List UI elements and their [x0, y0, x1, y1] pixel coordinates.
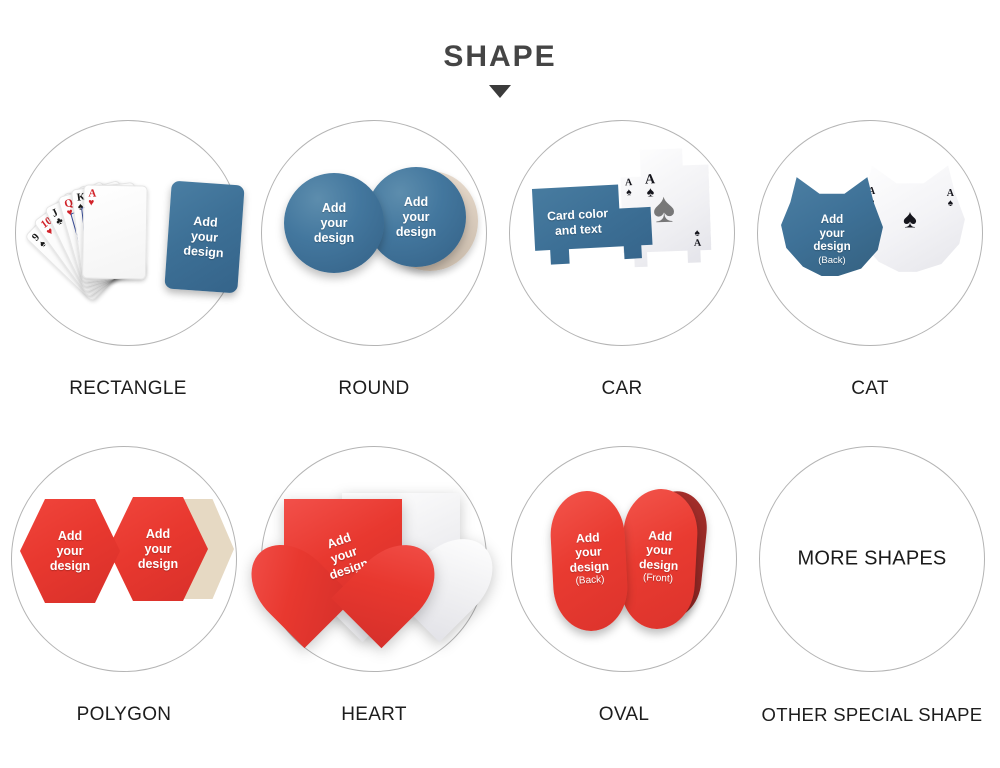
shape-catalog-page: SHAPE 9♠ 10♥ J♣ Q♥ K♠ [0, 0, 1000, 768]
more-shapes-text: MORE SHAPES [760, 548, 984, 571]
shape-cell-round[interactable]: Add your design Add your design ROUND [250, 120, 498, 400]
shape-cell-other[interactable]: MORE SHAPES OTHER SPECIAL SHAPE [748, 446, 996, 726]
round-card-front: Add your design [284, 173, 384, 273]
shape-cell-cat[interactable]: A♠ A♠ ♠ Add your design(Back) CAT [746, 120, 994, 400]
shape-label-car: CAR [498, 378, 746, 400]
heart-card-front: Add your design [284, 499, 402, 607]
shape-thumb-car[interactable]: A♠ A♠ ♠ ♠A Card color and text [509, 120, 735, 346]
shape-thumb-other[interactable]: MORE SHAPES [759, 446, 985, 672]
add-your-design-text: Add your design(Front) [621, 527, 698, 587]
add-your-design-text: Add your design [167, 212, 243, 261]
oval-card-front: Add your design(Front) [618, 487, 699, 631]
cat-card-front: Add your design(Back) [780, 173, 884, 277]
shape-thumb-oval[interactable]: Add your design(Front) Add your design(B… [511, 446, 737, 672]
card-pip: A♠ [625, 178, 633, 197]
card-fan: 9♠ 10♥ J♣ Q♥ K♠ A♥ [34, 155, 224, 315]
fan-card: A♥ [82, 184, 148, 279]
triangle-down-icon [489, 85, 511, 98]
spade-icon: ♠ [903, 204, 917, 235]
page-title: SHAPE [0, 40, 1000, 74]
shape-label-other: OTHER SPECIAL SHAPE [748, 704, 996, 726]
shape-label-cat: CAT [746, 378, 994, 400]
shape-cell-oval[interactable]: Add your design(Front) Add your design(B… [500, 446, 748, 726]
card-side-label: (Back) [780, 255, 884, 266]
shape-label-polygon: POLYGON [0, 704, 248, 726]
shape-cell-heart[interactable]: Add your design HEART [250, 446, 498, 726]
card-pip: A♥ [88, 189, 96, 209]
shape-thumb-round[interactable]: Add your design Add your design [261, 120, 487, 346]
shape-label-heart: HEART [250, 704, 498, 726]
add-your-design-text: Add your design [293, 519, 394, 591]
spade-icon: ♠ [652, 183, 676, 232]
shape-cell-polygon[interactable]: Add your design Add your design POLYGON [0, 446, 248, 726]
add-your-design-text: Add your design [284, 201, 384, 245]
polygon-card-front: Add your design [20, 499, 120, 603]
shape-thumb-rectangle[interactable]: 9♠ 10♥ J♣ Q♥ K♠ A♥ [15, 120, 241, 346]
shape-label-oval: OVAL [500, 704, 748, 726]
add-your-design-text: Add your design(Back) [780, 213, 884, 266]
card-side-label: (Back) [553, 573, 628, 589]
card-pip: ♠A [693, 229, 701, 248]
shape-thumb-polygon[interactable]: Add your design Add your design [11, 446, 237, 672]
card-color-and-text: Card color and text [531, 205, 624, 239]
custom-design-card: Add your design [164, 181, 244, 294]
shape-thumb-heart[interactable]: Add your design [261, 446, 487, 672]
shape-label-round: ROUND [250, 378, 498, 400]
shape-cell-car[interactable]: A♠ A♠ ♠ ♠A Card color and text CAR [498, 120, 746, 400]
shape-thumb-cat[interactable]: A♠ A♠ ♠ Add your design(Back) [757, 120, 983, 346]
shape-label-rectangle: RECTANGLE [4, 378, 252, 400]
card-pip: A♠ [947, 189, 954, 208]
add-your-design-text: Add your design(Back) [550, 529, 627, 589]
add-your-design-text: Add your design [108, 527, 208, 571]
add-your-design-text: Add your design [20, 529, 120, 573]
card-side-label: (Front) [621, 571, 696, 587]
shape-cell-rectangle[interactable]: 9♠ 10♥ J♣ Q♥ K♠ A♥ [4, 120, 252, 400]
oval-card-back: Add your design(Back) [548, 489, 629, 633]
